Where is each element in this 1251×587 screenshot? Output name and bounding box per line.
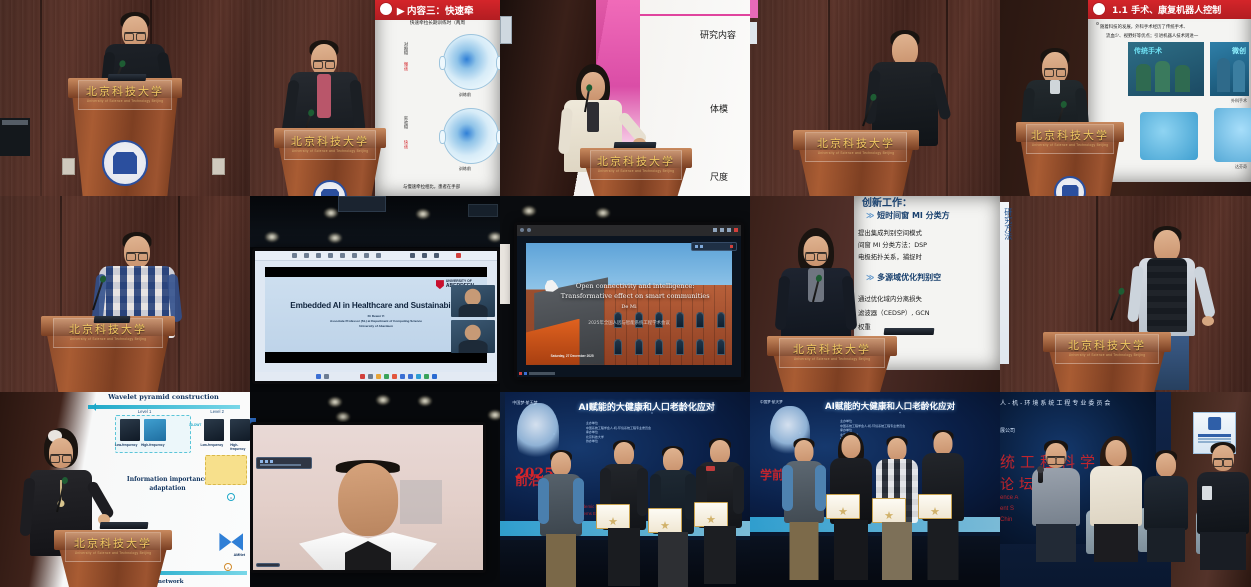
wavelet-center-text: Information importance adaptation [121,475,213,493]
banner-title: AI赋能的大健康和人口老龄化应对 [825,400,955,412]
lectern: 北京科技大学 University of Science and Technol… [1048,332,1166,392]
taskbar-icon[interactable] [324,374,329,379]
lectern-plaque-english: University of Science and Technology Bei… [1032,144,1109,147]
menu-icon[interactable] [520,228,524,232]
group-person [920,430,966,584]
slide-body-2: 间窗 MI 分类方法：DSP [858,240,927,249]
lectern-plaque: 北京科技大学 University of Science and Technol… [779,338,885,368]
remote-person-head [338,463,398,536]
slide-title-text: 内容三：快速牵 [407,6,474,17]
slide-body-4: 通过优化域内分离损失 [858,294,922,303]
ceiling-light [418,396,432,406]
meeting-status-chip[interactable] [256,563,280,567]
slide-left-label-1: 对照组 [403,42,409,55]
ceiling-light [324,208,338,218]
background-shelf [400,480,441,524]
photo-cell-speaker-podium-dark-shirt: 北京科技大学 University of Science and Technol… [0,0,250,196]
lectern-plaque-english: University of Science and Technology Bei… [818,152,895,155]
ceiling-light [265,232,279,242]
photo-cell-panel-discussion: 人-机-环境系统工程专业委员会 展公司 统工程科学 论坛 ence A ent … [1000,392,1251,587]
building-photo: Open connectivity and intelligence: Tran… [526,243,732,365]
slide-date: Saturday, 27 December 2025 [551,354,594,358]
slide-left-label-2: 慢速 [403,62,409,70]
photo-cell-online-talk-aberdeen: UNIVERSITY OF ABERDEEN Embedded AI in He… [250,196,500,392]
lectern-plaque: 北京科技大学 University of Science and Technol… [284,130,376,160]
group-person [874,436,920,584]
panelist-person [1088,436,1144,562]
robot-illustration-1 [1140,112,1198,160]
side-equipment-top [2,120,28,125]
chat-icon[interactable] [316,253,321,258]
handheld-microphone [1038,470,1043,483]
poster-logo-icon [1208,417,1222,431]
taskbar-icon[interactable] [416,374,421,379]
band-label-low-2: Low-frequency [201,443,224,447]
photo-cell-speaker-podium-black-jacket: 北京科技大学 University of Science and Technol… [750,0,1000,196]
meeting-info-chip[interactable] [691,242,737,251]
meeting-info-chip[interactable] [256,457,312,469]
wavelet-title: Wavelet pyramid construction [108,393,219,401]
wall-outlet [212,158,225,175]
slide-divider [640,14,750,16]
app-titlebar[interactable] [517,225,741,236]
laptop [100,522,149,529]
eeg-topomap-1 [443,34,499,90]
record-icon[interactable] [304,253,309,258]
lectern-plaque-chinese: 北京科技大学 [69,324,147,335]
layout-icon[interactable] [434,253,439,258]
slide-chinese-line: 2025年全国人因与智能系统工程学术会议 [526,320,732,326]
lectern-plaque-chinese: 北京科技大学 [74,538,152,549]
lectern: 北京科技大学 University of Science and Technol… [798,130,914,196]
robot-illustration-2 [1214,108,1251,162]
surgery-photo-label-2: 微创 [1232,46,1246,56]
participant-video-tiles[interactable] [451,285,495,356]
center-text-line-2: adaptation [121,484,213,493]
group-person [782,438,826,584]
wavelet-note-box [205,455,247,485]
slide-heading: 1.1 手术、康复机器人控制 [1088,0,1251,19]
slide-subtitle: 快速牵拉长期训练时（两周 [375,20,500,26]
slide-title-line-1: Open connectivity and intelligence: [555,282,716,292]
slide-number-badge [379,2,393,16]
lectern-plaque: 北京科技大学 University of Science and Technol… [1026,124,1114,154]
slide-line-3: 尺度 [710,170,728,183]
certificate [596,504,630,529]
lectern-plaque-english: University of Science and Technology Bei… [794,358,871,361]
group-person [828,432,874,584]
amnet-icon [219,533,243,551]
lectern-plaque: 北京科技大学 University of Science and Technol… [65,532,162,562]
side-panel [500,16,512,44]
center-text-line-1: Information importance [121,475,213,484]
bullet-marker [1096,22,1099,25]
ceiling-light [328,233,342,243]
slide-line-2: 体模 [710,102,728,115]
slide-body-6: 权重 [858,322,871,331]
lectern: 北京科技大学 University of Science and Technol… [772,336,892,392]
ceiling-light [336,412,350,422]
band-label-low-1: Low-frequency [115,443,138,447]
photo-cell-award-group-four-men: 中国梦·航天梦 AI赋能的大健康和人口老龄化应对 主办单位 中国系统工程学会人-… [500,392,750,587]
lectern-plaque-chinese: 北京科技大学 [597,156,675,167]
upsample-node-icon: U [224,563,232,571]
screen-edge-text: 研究方法 [1001,208,1014,240]
webcam-video [253,425,483,570]
status-bar [519,372,555,375]
lectern-plaque: 北京科技大学 University of Science and Technol… [1055,334,1159,364]
lectern-plaque-english: University of Science and Technology Bei… [70,338,147,341]
lectern: 北京科技大学 University of Science and Technol… [278,128,382,196]
ceiling-light [376,395,390,405]
surgery-caption-2: 达芬奇 [1235,164,1247,170]
ceiling-light [488,232,500,242]
certificate [694,502,728,527]
group-person [650,446,696,587]
lectern-plaque-english: University of Science and Technology Bei… [1069,354,1146,357]
taskbar-icon[interactable] [368,374,373,379]
surgery-caption-1: 外科手术 [1231,98,1247,104]
photo-cell-award-group-mixed: 中国梦·航天梦 AI赋能的大健康和人口老龄化应对 主办单位 中国系统工程学会人-… [750,392,1000,587]
projection-screen: ▶ 内容三：快速牵 快速牵拉长期训练时（两周 训练前 训练前 对照组 慢速 实验… [375,0,500,196]
ceiling-light [522,206,536,216]
group-person [538,450,584,587]
wavelet-level-label-2: Level 2 [210,409,224,414]
slide-heading-text: 1.1 手术、康复机器人控制 [1112,6,1221,16]
taskbar-icon[interactable] [392,374,397,379]
lectern-plaque-chinese: 北京科技大学 [1068,340,1146,351]
lectern-plaque-english: University of Science and Technology Bei… [598,170,675,173]
eeg-caption-1: 训练前 [459,92,471,98]
band-label-high-2: High-frequency [230,443,250,451]
taskbar-icon[interactable] [400,374,405,379]
participants-icon[interactable] [328,253,333,258]
toolbar-icon[interactable] [727,228,731,232]
reaction-icon[interactable] [352,253,357,258]
meeting-app-window: UNIVERSITY OF ABERDEEN Embedded AI in He… [255,251,497,381]
edge-artifact [750,22,757,44]
speaker-person [1128,224,1206,338]
close-icon[interactable] [734,228,738,232]
wall-display: Open connectivity and intelligence: Tran… [514,222,744,380]
slide-title: Open connectivity and intelligence: Tran… [555,282,716,302]
taskbar-icon[interactable] [432,374,437,379]
lectern-plaque-chinese: 北京科技大学 [793,344,871,355]
photo-cell-online-talk-smart-communities: Open connectivity and intelligence: Tran… [500,196,750,392]
mic-icon[interactable] [422,253,427,258]
banner-english-line-1: ence A [1000,493,1018,504]
banner-english: ence A ent S Chin [1000,493,1018,525]
ceiling-vent [468,204,498,217]
taskbar-icon[interactable] [360,374,365,379]
shared-slide-affiliation-2: University of Aberdeen [330,324,422,329]
lectern: 北京科技大学 University of Science and Technol… [1020,122,1120,196]
wall-seam [40,0,42,196]
slide-bullet-2: ≫ 多源域优化判别空 [866,272,941,283]
laptop [94,316,131,323]
mri-thumb [230,419,250,441]
taskbar-icon[interactable] [384,374,389,379]
university-emblem [102,140,148,186]
surgery-photo-2: 微创 [1210,42,1249,96]
frequency-block [144,419,166,441]
toolbar-icon[interactable] [713,228,717,232]
banner-english-line-2: ent S [1000,504,1018,515]
share-screen-icon[interactable] [292,253,297,258]
os-taskbar[interactable] [255,372,497,381]
panelist-person [1142,450,1190,560]
slide-body-5: 滤波器（CEDSP）, GCN [858,308,930,317]
concat-node-icon: C [227,493,235,501]
taskbar-icon[interactable] [316,374,321,379]
slide-body-1: 提出集成判别空间模式 [858,228,922,237]
banner-top-line: 人-机-环境系统工程专业委员会 [1000,398,1112,407]
side-wall [500,244,510,304]
lectern: 北京科技大学 University of Science and Technol… [584,148,688,196]
name-badge [1202,486,1212,500]
slide-body-line-2: 流血少、视野好等优点；引进机器人技术则进一 [1106,33,1198,39]
laptop [108,74,147,81]
slide-title-line-2: Transformative effect on smart communiti… [555,292,716,302]
slide-body-line-1: 随着科技的发展，外科手术经历了传统手术、 [1100,24,1188,30]
photo-cell-female-speaker-pink-slide: 研究内容 体模 尺度 北京科技大学 University of Science … [500,0,750,196]
lectern-plaque-english: University of Science and Technology Bei… [292,150,369,153]
shared-slide-title: Embedded AI in Healthcare and Sustainabi… [290,301,461,310]
banner-corner-text: 中国梦·航天梦 [512,400,537,406]
banner-title: AI赋能的大健康和人口老龄化应对 [579,400,715,413]
photo-cell-remote-speaker-white-coat [250,392,500,587]
slide-bullet-1: ≫ 短时间窗 MI 分类方 [866,210,950,221]
surgery-photo-label-1: 传统手术 [1134,46,1162,56]
eeg-caption-2: 训练前 [459,166,471,172]
slide-left-label-4: 快速 [403,140,409,148]
lectern: 北京科技大学 University of Science and Technol… [72,78,178,196]
taskbar-icon[interactable] [424,374,429,379]
more-icon[interactable] [376,253,381,258]
lectern-plaque-chinese: 北京科技大学 [817,138,895,149]
photo-cell-speaker-surgical-robot-slide: 1.1 手术、康复机器人控制 随着科技的发展，外科手术经历了传统手术、 流血少、… [1000,0,1251,196]
photo-cell-speaker-with-eeg-slide: ▶ 内容三：快速牵 快速牵拉长期训练时（两周 训练前 训练前 对照组 慢速 实验… [250,0,500,196]
participant-tile[interactable] [451,320,495,353]
group-person [600,440,648,587]
wall-display [250,422,486,573]
ceiling-light [488,410,500,420]
arrow-head-icon [88,403,96,411]
photo-collage-grid: 北京科技大学 University of Science and Technol… [0,0,1251,587]
camera-icon[interactable] [410,253,415,258]
remote-slide-window: Open connectivity and intelligence: Tran… [517,225,741,377]
photo-cell-speaker-black-vest: 研究方法 北京科技大学 University of Science and Te… [1000,196,1251,392]
ceiling-light [328,397,342,407]
banner-english-line-3: Chin [1000,515,1018,526]
lectern: 北京科技大学 University of Science and Technol… [46,316,170,392]
slide-body-3: 电极拓扑关系，捕捉时 [858,252,922,261]
certificate [826,494,860,519]
menu-icon[interactable] [527,228,531,232]
speaker-person [868,28,942,138]
ceiling-light [416,209,430,219]
lectern-plaque-english: University of Science and Technology Bei… [87,100,164,103]
transform-label: 3D-DWT [189,423,201,427]
mri-thumb [204,419,224,441]
meeting-toolbar[interactable] [255,251,497,261]
panelist-person [1196,442,1250,568]
lectern-plaque-chinese: 北京科技大学 [86,86,164,97]
photo-cell-female-speaker-wavelet-slide: Wavelet pyramid construction Level 1 Low… [0,392,250,587]
shield-icon [436,280,444,289]
lectern-plaque: 北京科技大学 University of Science and Technol… [78,80,171,110]
band-label-high-1: High-frequency [141,443,164,447]
slide-heading: 创新工作： [862,196,912,209]
edge-artifact [750,0,758,18]
photo-cell-speaker-checked-shirt: 北京科技大学 University of Science and Technol… [0,196,250,392]
ceiling-light [596,208,610,218]
banner-sub-line: 展公司 [1000,427,1015,434]
eeg-topomap-2 [443,108,499,164]
lectern-plaque-chinese: 北京科技大学 [1031,130,1109,141]
toolbar-icon[interactable] [720,228,724,232]
remote-video-feed [253,425,483,570]
surgery-photo-1: 传统手术 [1128,42,1204,96]
settings-icon[interactable] [364,253,369,258]
laptop [884,328,935,335]
photo-cell-female-speaker-mi-classification: 创新工作： ≫ 短时间窗 MI 分类方 提出集成判别空间模式 间窗 MI 分类方… [750,196,1000,392]
taskbar-icon[interactable] [408,374,413,379]
speaker-person [96,230,178,330]
invite-icon[interactable] [340,253,345,258]
leave-meeting-icon[interactable] [456,253,461,258]
slide-area: Open connectivity and intelligence: Tran… [526,243,732,365]
slide-heading: ▶ 内容三：快速牵 [375,0,500,20]
lectern-plaque: 北京科技大学 University of Science and Technol… [590,150,682,180]
lectern-plaque-english: University of Science and Technology Bei… [75,552,152,555]
slide-left-label-3: 实验组 [403,116,409,129]
ceiling-vent [338,196,386,212]
taskbar-icon[interactable] [376,374,381,379]
projector-display: UNIVERSITY OF ABERDEEN Embedded AI in He… [252,248,500,384]
lectern-plaque: 北京科技大学 University of Science and Technol… [805,132,907,162]
amnet-label: AMNet [234,553,245,557]
lectern-plaque-chinese: 北京科技大学 [291,136,369,147]
banner-corner-text: 中国梦·航天梦 [760,400,783,405]
certificate [872,498,906,523]
lectern: 北京科技大学 University of Science and Technol… [58,530,168,587]
slide-logo-badge [1092,2,1106,16]
slide-line-1: 研究内容 [700,28,736,41]
panelist-person [1030,440,1082,560]
certificate [918,494,952,519]
slide-footer: 与慢速牵拉相比，患者在手部 [403,184,460,190]
shared-slide-affiliation-1: Associate Professor (SL) at Department o… [330,319,422,324]
group-person [696,438,744,587]
participant-tile[interactable] [451,285,495,318]
slide-presenter: De Mi [526,304,732,310]
mri-thumb [120,419,140,441]
certificate [648,508,682,533]
wavelet-level-label-1: Level 1 [138,409,152,414]
